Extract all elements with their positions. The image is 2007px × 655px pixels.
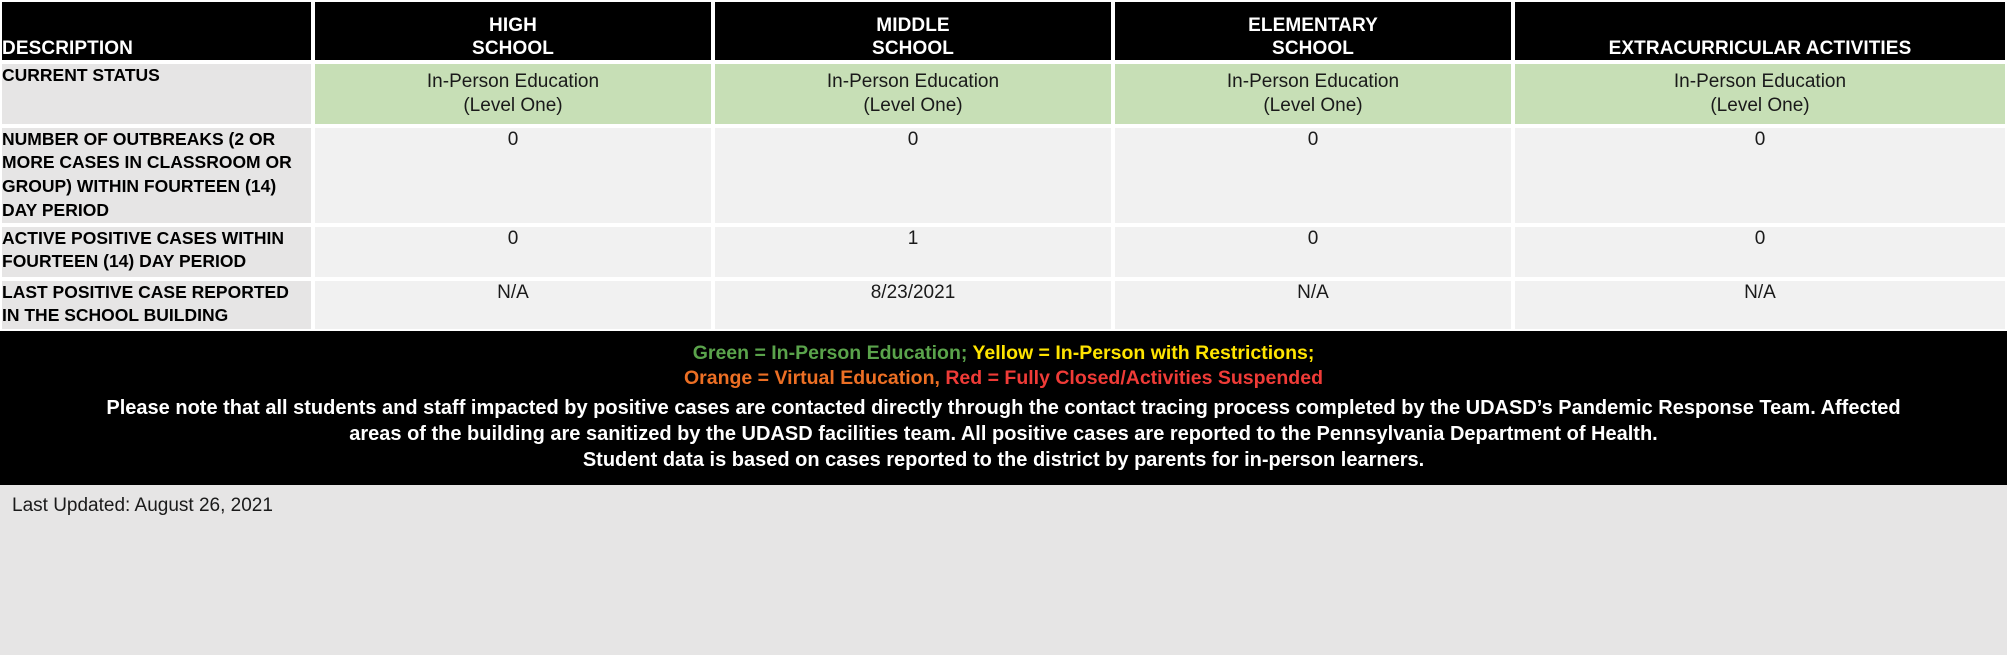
cell-current-status-elementary-school: In-Person Education (Level One) bbox=[1113, 62, 1513, 126]
cell-current-status-middle-school: In-Person Education (Level One) bbox=[713, 62, 1113, 126]
legend-line-two: Orange = Virtual Education, Red = Fully … bbox=[18, 366, 1989, 391]
legend-orange-text: Orange = Virtual Education, bbox=[684, 367, 940, 389]
cell-outbreaks-elementary-school: 0 bbox=[1113, 126, 1513, 225]
cell-current-status-middle-school-level: (Level One) bbox=[715, 94, 1111, 118]
cell-outbreaks-high-school: 0 bbox=[313, 126, 713, 225]
cell-last-case-elementary-school: N/A bbox=[1113, 279, 1513, 331]
row-label-current-status: CURRENT STATUS bbox=[0, 62, 313, 126]
legend-yellow-text: Yellow = In-Person with Restrictions; bbox=[972, 342, 1314, 364]
cell-current-status-extracurricular: In-Person Education (Level One) bbox=[1513, 62, 2007, 126]
column-header-elementary-school-line1: ELEMENTARY bbox=[1115, 14, 1511, 37]
column-header-high-school: HIGH SCHOOL bbox=[313, 0, 713, 62]
cell-active-cases-extracurricular: 0 bbox=[1513, 225, 2007, 279]
table-row-last-positive-case: LAST POSITIVE CASE REPORTED IN THE SCHOO… bbox=[0, 279, 2007, 331]
covid-status-dashboard: DESCRIPTION HIGH SCHOOL MIDDLE SCHOOL EL… bbox=[0, 0, 2007, 655]
row-label-number-of-outbreaks: NUMBER OF OUTBREAKS (2 OR MORE CASES IN … bbox=[0, 126, 313, 225]
last-updated-bar: Last Updated: August 26, 2021 bbox=[0, 485, 2007, 655]
cell-current-status-high-school: In-Person Education (Level One) bbox=[313, 62, 713, 126]
column-header-elementary-school: ELEMENTARY SCHOOL bbox=[1113, 0, 1513, 62]
cell-current-status-extracurricular-level: (Level One) bbox=[1515, 94, 2005, 118]
cell-current-status-extracurricular-value: In-Person Education bbox=[1674, 71, 1846, 92]
legend-green-text: Green = In-Person Education; bbox=[693, 342, 968, 364]
cell-last-case-high-school: N/A bbox=[313, 279, 713, 331]
column-header-elementary-school-line2: SCHOOL bbox=[1115, 37, 1511, 60]
column-header-middle-school: MIDDLE SCHOOL bbox=[713, 0, 1113, 62]
disclaimer-note-line-1: Please note that all students and staff … bbox=[18, 395, 1989, 421]
cell-current-status-elementary-school-level: (Level One) bbox=[1115, 94, 1511, 118]
cell-current-status-middle-school-value: In-Person Education bbox=[827, 71, 999, 92]
cell-current-status-elementary-school-value: In-Person Education bbox=[1227, 71, 1399, 92]
cell-outbreaks-extracurricular: 0 bbox=[1513, 126, 2007, 225]
cell-active-cases-elementary-school: 0 bbox=[1113, 225, 1513, 279]
row-label-last-positive-case: LAST POSITIVE CASE REPORTED IN THE SCHOO… bbox=[0, 279, 313, 331]
column-header-middle-school-line2: SCHOOL bbox=[715, 37, 1111, 60]
table-header-row: DESCRIPTION HIGH SCHOOL MIDDLE SCHOOL EL… bbox=[0, 0, 2007, 62]
disclaimer-note-line-2: areas of the building are sanitized by t… bbox=[18, 421, 1989, 447]
column-header-high-school-line2: SCHOOL bbox=[315, 37, 711, 60]
column-header-extracurricular-activities: EXTRACURRICULAR ACTIVITIES bbox=[1513, 0, 2007, 62]
column-header-extracurricular-activities-line1: EXTRACURRICULAR ACTIVITIES bbox=[1515, 37, 2005, 60]
table-row-current-status: CURRENT STATUS In-Person Education (Leve… bbox=[0, 62, 2007, 126]
cell-active-cases-middle-school: 1 bbox=[713, 225, 1113, 279]
column-header-high-school-line1: HIGH bbox=[315, 14, 711, 37]
legend-red-text: Red = Fully Closed/Activities Suspended bbox=[945, 367, 1323, 389]
cell-last-case-extracurricular: N/A bbox=[1513, 279, 2007, 331]
legend-line-one: Green = In-Person Education; Yellow = In… bbox=[18, 341, 1989, 366]
cell-active-cases-high-school: 0 bbox=[313, 225, 713, 279]
cell-current-status-high-school-level: (Level One) bbox=[315, 94, 711, 118]
cell-outbreaks-middle-school: 0 bbox=[713, 126, 1113, 225]
cell-last-case-middle-school: 8/23/2021 bbox=[713, 279, 1113, 331]
row-label-active-positive-cases: ACTIVE POSITIVE CASES WITHIN FOURTEEN (1… bbox=[0, 225, 313, 279]
disclaimer-note-line-3: Student data is based on cases reported … bbox=[18, 447, 1989, 473]
school-status-table: DESCRIPTION HIGH SCHOOL MIDDLE SCHOOL EL… bbox=[0, 0, 2007, 331]
column-header-middle-school-line1: MIDDLE bbox=[715, 14, 1111, 37]
table-row-active-positive-cases: ACTIVE POSITIVE CASES WITHIN FOURTEEN (1… bbox=[0, 225, 2007, 279]
table-row-number-of-outbreaks: NUMBER OF OUTBREAKS (2 OR MORE CASES IN … bbox=[0, 126, 2007, 225]
disclaimer-note: Please note that all students and staff … bbox=[18, 391, 1989, 473]
column-header-description: DESCRIPTION bbox=[0, 0, 313, 62]
cell-current-status-high-school-value: In-Person Education bbox=[427, 71, 599, 92]
legend-and-note-band: Green = In-Person Education; Yellow = In… bbox=[0, 331, 2007, 485]
